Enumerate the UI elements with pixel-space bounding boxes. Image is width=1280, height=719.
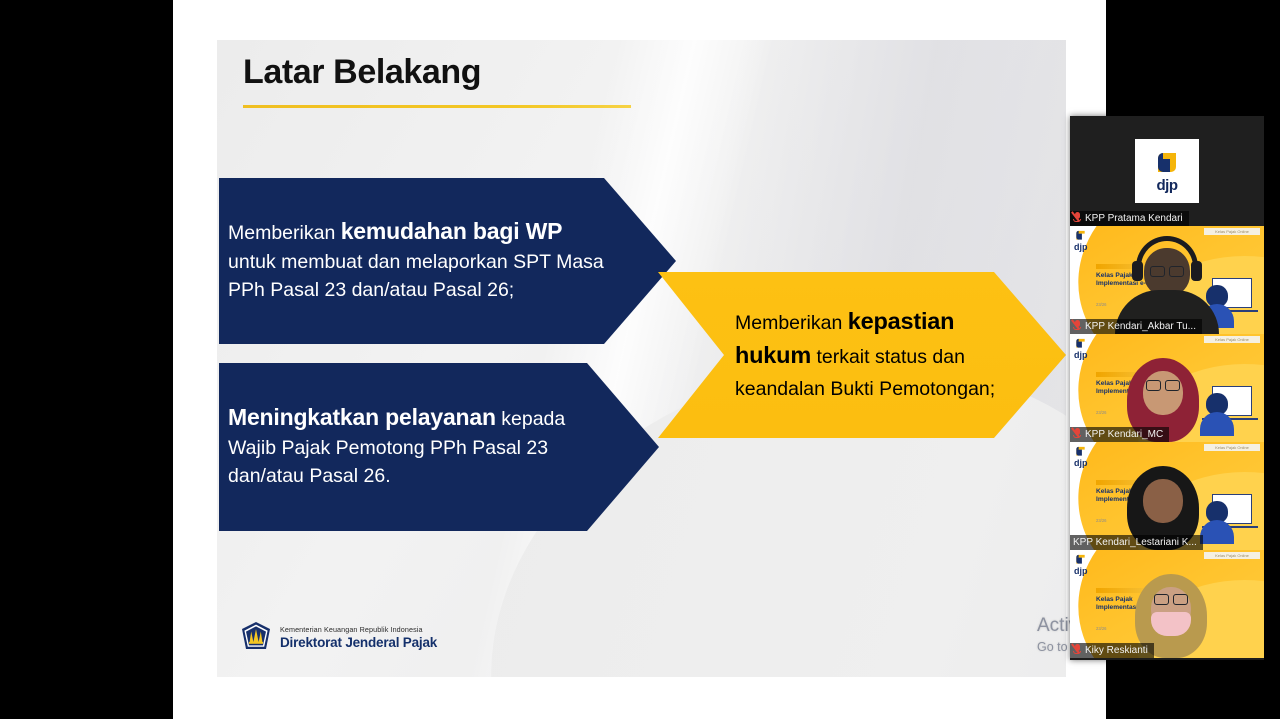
ministry-label: Kementerian Keuangan Republik Indonesia: [280, 625, 437, 634]
djp-logo-card: djp: [1135, 139, 1199, 203]
mic-muted-icon: [1073, 428, 1082, 442]
djp-wordmark: djp: [1157, 178, 1178, 193]
djp-mark-icon: [1074, 229, 1087, 242]
video-tile-mc[interactable]: Kelas Pajak Online djp Kelas Pajak Imple…: [1070, 334, 1264, 442]
vbg-djp-logo: djp: [1074, 229, 1090, 252]
callout-paragraph: Memberikan kemudahan bagi WP untuk membu…: [228, 217, 606, 305]
participant-name: KPP Pratama Kendari: [1085, 213, 1183, 224]
djp-mark-icon: [1074, 337, 1087, 350]
face-mask-icon: [1151, 612, 1191, 636]
vbg-tag-label: Kelas Pajak Online: [1204, 336, 1260, 343]
vbg-person-icon: [1200, 501, 1234, 544]
vbg-tag-label: Kelas Pajak Online: [1204, 444, 1260, 451]
participant-namebar: KPP Pratama Kendari: [1070, 211, 1189, 226]
vbg-tag-label: Kelas Pajak Online: [1204, 228, 1260, 235]
participant-namebar: Kiky Reskianti: [1070, 643, 1154, 658]
callout-lead: Memberikan: [735, 312, 848, 334]
glasses-icon: [1150, 266, 1184, 277]
callout-box-pelayanan: Meningkatkan pelayanan kepada Wajib Paja…: [219, 363, 659, 531]
vbg-djp-logo: djp: [1074, 445, 1090, 468]
mic-muted-icon: [1073, 644, 1082, 658]
video-thumbnail-strip[interactable]: djp KPP Pratama Kendari Kelas Pajak Onli…: [1070, 116, 1264, 660]
djp-wordmark: djp: [1074, 243, 1090, 252]
title-underline: [243, 105, 631, 108]
video-tile-lestariani[interactable]: Kelas Pajak Online djp Kelas Pajak Imple…: [1070, 442, 1264, 550]
djp-wordmark: djp: [1074, 351, 1090, 360]
glasses-icon: [1146, 380, 1180, 391]
djp-mark-icon: [1074, 445, 1087, 458]
callout-paragraph: Memberikan kepastian hukum terkait statu…: [735, 305, 1026, 405]
vbg-djp-logo: djp: [1074, 553, 1090, 576]
participant-name: KPP Kendari_Lestariani K...: [1073, 537, 1197, 548]
slide-footer-logo: Kementerian Keuangan Republik Indonesia …: [240, 621, 437, 653]
video-tile-kiky[interactable]: Kelas Pajak Online djp Kelas Pajak Imple…: [1070, 550, 1264, 658]
participant-namebar: KPP Kendari_Akbar Tu...: [1070, 319, 1202, 334]
participant-namebar: KPP Kendari_MC: [1070, 427, 1169, 442]
vbg-djp-logo: djp: [1074, 337, 1090, 360]
djp-wordmark: djp: [1074, 459, 1090, 468]
participant-name: KPP Kendari_MC: [1085, 429, 1163, 440]
participant-name: KPP Kendari_Akbar Tu...: [1085, 321, 1196, 332]
djp-mark-icon: [1153, 149, 1181, 177]
callout-text-wrap: Meningkatkan pelayanan kepada Wajib Paja…: [219, 403, 659, 491]
participant-namebar: KPP Kendari_Lestariani K...: [1070, 535, 1203, 550]
participant-name: Kiky Reskianti: [1085, 645, 1148, 656]
page-title: Latar Belakang: [243, 53, 633, 92]
vbg-tag-label: Kelas Pajak Online: [1204, 552, 1260, 559]
callout-text-wrap: Memberikan kemudahan bagi WP untuk membu…: [219, 217, 676, 305]
callout-strong: Meningkatkan pelayanan: [228, 404, 496, 430]
glasses-icon: [1154, 594, 1188, 605]
callout-lead: Memberikan: [228, 222, 341, 244]
vbg-person-icon: [1200, 393, 1234, 436]
callout-paragraph: Meningkatkan pelayanan kepada Wajib Paja…: [228, 403, 589, 491]
callout-tail: untuk membuat dan melaporkan SPT Masa PP…: [228, 251, 604, 302]
mic-muted-icon: [1073, 320, 1082, 334]
slide-title-block: Latar Belakang: [243, 53, 633, 108]
presentation-slide: Latar Belakang Memberikan kemudahan bagi…: [217, 40, 1066, 677]
video-tile-kpp-pratama-kendari[interactable]: djp KPP Pratama Kendari: [1070, 116, 1264, 226]
mic-muted-icon: [1073, 212, 1082, 226]
callout-strong: kemudahan bagi WP: [341, 218, 563, 244]
video-tile-akbar[interactable]: Kelas Pajak Online djp Kelas Pajak Imple…: [1070, 226, 1264, 334]
djp-mark-icon: [1074, 553, 1087, 566]
directorate-label: Direktorat Jenderal Pajak: [280, 635, 437, 650]
djp-wordmark: djp: [1074, 567, 1090, 576]
shared-content-viewer: Latar Belakang Memberikan kemudahan bagi…: [173, 0, 1106, 719]
screen-root: ➨ You are screen sharing 🎙⁄ ◯ 🛡 Stop Sha…: [0, 0, 1280, 719]
callout-box-kemudahan: Memberikan kemudahan bagi WP untuk membu…: [219, 178, 676, 344]
footer-text-block: Kementerian Keuangan Republik Indonesia …: [280, 625, 437, 650]
kemenkeu-crest-icon: [240, 621, 272, 653]
